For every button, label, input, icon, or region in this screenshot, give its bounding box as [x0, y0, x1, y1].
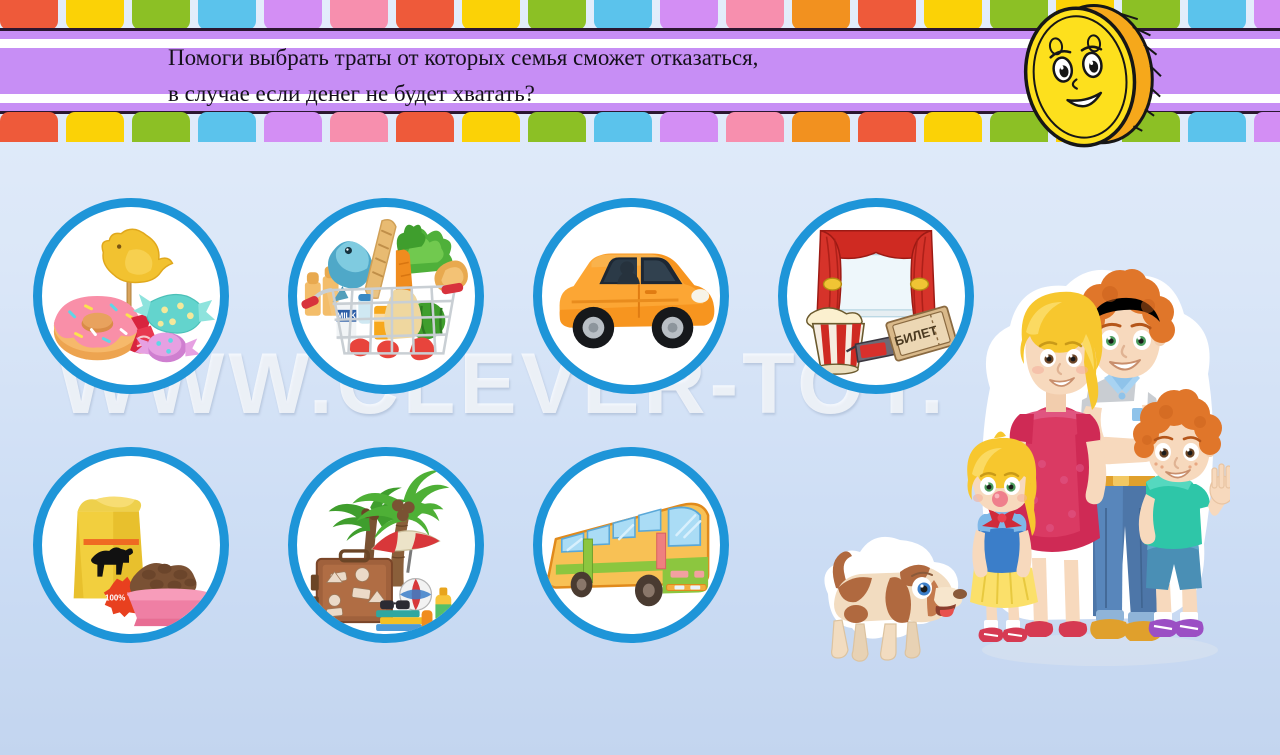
top-color-block-3	[198, 0, 256, 30]
family-dog	[812, 536, 977, 666]
bottom-color-block-11	[726, 112, 784, 142]
bottom-color-block-4	[264, 112, 322, 142]
bottom-color-block-3	[198, 112, 256, 142]
bottom-color-block-7	[462, 112, 520, 142]
top-color-block-11	[726, 0, 784, 30]
card-sweets[interactable]	[33, 198, 229, 394]
card-cinema[interactable]: БИЛЕТ	[778, 198, 974, 394]
top-color-block-13	[858, 0, 916, 30]
top-color-block-2	[132, 0, 190, 30]
card-groceries[interactable]: MILK	[288, 198, 484, 394]
candy-donut-lollipop-icon	[42, 207, 220, 385]
top-color-block-1	[66, 0, 124, 30]
shopping-cart-groceries-icon: MILK	[297, 207, 475, 385]
bottom-color-block-9	[594, 112, 652, 142]
bottom-color-block-1	[66, 112, 124, 142]
bottom-color-block-12	[792, 112, 850, 142]
top-color-block-0	[0, 0, 58, 30]
bottom-color-block-2	[132, 112, 190, 142]
card-car[interactable]	[533, 198, 729, 394]
top-color-block-12	[792, 0, 850, 30]
page-header: Помоги выбрать траты от которых семья см…	[0, 0, 1280, 140]
card-bus[interactable]	[533, 447, 729, 643]
top-color-block-19	[1254, 0, 1280, 30]
bottom-color-block-0	[0, 112, 58, 142]
top-color-block-7	[462, 0, 520, 30]
bottom-color-block-19	[1254, 112, 1280, 142]
bottom-color-block-8	[528, 112, 586, 142]
orange-bus-icon	[542, 456, 720, 634]
palm-suitcase-beach-icon	[297, 456, 475, 634]
dog-food-bag-bowl-icon: 100%	[42, 456, 220, 634]
top-color-block-9	[594, 0, 652, 30]
family-group	[960, 268, 1230, 680]
bottom-color-block-10	[660, 112, 718, 142]
orange-car-icon	[542, 207, 720, 385]
bottom-color-block-6	[396, 112, 454, 142]
bottom-color-block-18	[1188, 112, 1246, 142]
top-color-block-18	[1188, 0, 1246, 30]
page-title-line-1: Помоги выбрать траты от которых семья см…	[168, 40, 968, 76]
top-color-block-14	[924, 0, 982, 30]
bottom-color-block-14	[924, 112, 982, 142]
page-title-line-2: в случае если денег не будет хватать?	[168, 76, 968, 112]
pet-food-badge-label: 100%	[105, 593, 125, 602]
top-color-block-5	[330, 0, 388, 30]
coin-mascot-icon	[1006, 2, 1166, 150]
card-vacation[interactable]	[288, 447, 484, 643]
top-color-block-8	[528, 0, 586, 30]
bottom-color-block-5	[330, 112, 388, 142]
card-pet-food[interactable]: 100%	[33, 447, 229, 643]
top-color-block-4	[264, 0, 322, 30]
top-color-block-6	[396, 0, 454, 30]
top-color-block-10	[660, 0, 718, 30]
bottom-color-block-13	[858, 112, 916, 142]
cinema-popcorn-ticket-icon: БИЛЕТ	[787, 207, 965, 385]
page-title: Помоги выбрать траты от которых семья см…	[168, 40, 968, 111]
